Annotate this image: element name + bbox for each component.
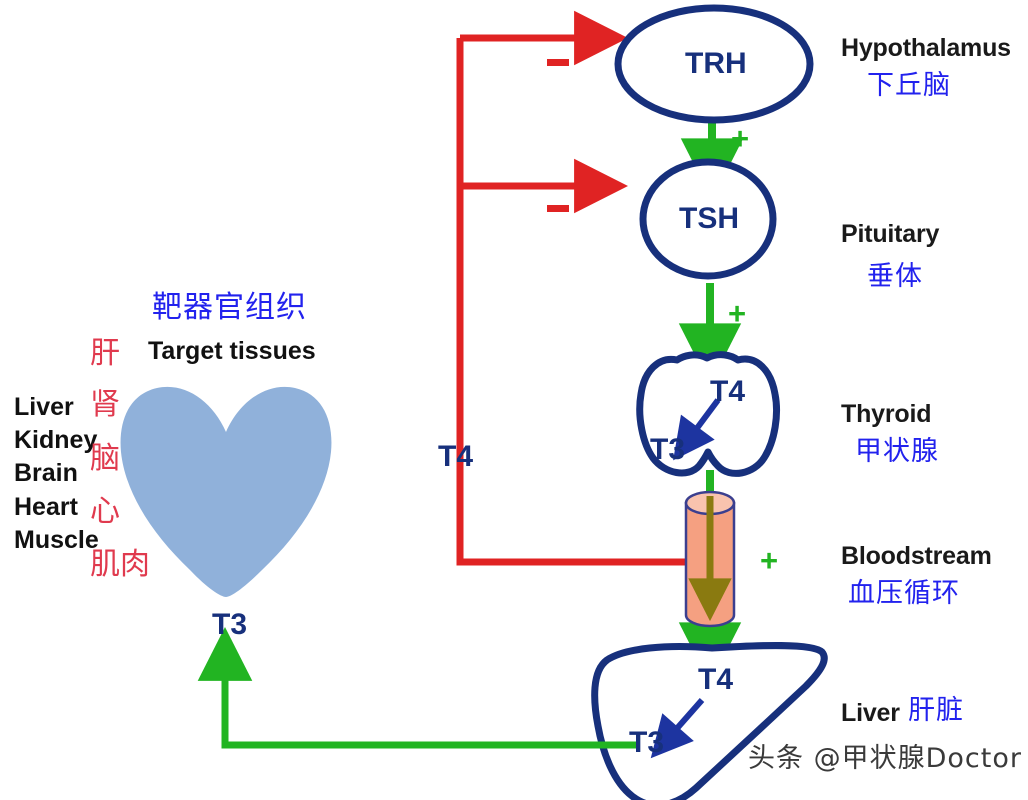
target-tissue-en-brain: Brain [14,461,78,486]
bloodstream-label-zh: 血压循环 [848,580,960,607]
liver-t4-label: T4 [698,665,733,695]
hypothalamus-hormone-label: TRH [685,49,747,79]
liver-t3-label: T3 [629,728,664,758]
target-tissue-zh-liver: 肝 [90,339,120,369]
target-tissue-en-heart: Heart [14,495,78,520]
thyroid-t4-label: T4 [710,377,745,407]
target-tissue-en-liver: Liver [14,395,74,420]
plus-sign-bloodstream: + [760,545,778,576]
pituitary-hormone-label: TSH [679,204,739,234]
target-tissue-heart-shape [121,387,332,597]
bloodstream-label-en: Bloodstream [841,544,992,569]
target-tissues-title-en: Target tissues [148,339,316,364]
feedback-trunk-line [460,38,690,562]
t3-return-path [225,655,637,745]
plus-sign-trh-to-tsh: + [731,123,749,154]
bloodstream-shape [686,492,734,626]
plus-sign-tsh-to-thyroid: + [728,298,746,329]
thyroid-label-en: Thyroid [841,402,931,427]
minus-sign-pituitary [547,205,569,212]
liver-label-en: Liver [841,701,900,726]
liver-label-zh: 肝脏 [908,697,964,724]
thyroid-label-zh: 甲状腺 [855,438,939,465]
t4-feedback-label: T4 [438,442,473,472]
target-tissue-zh-kidney: 肾 [90,390,120,420]
hypothalamus-label-en: Hypothalamus [841,36,1011,61]
target-tissue-zh-brain: 脑 [90,444,120,474]
pituitary-label-zh: 垂体 [867,263,923,290]
pituitary-label-en: Pituitary [841,222,939,247]
t3-to-tissues-label: T3 [212,610,247,640]
watermark: 头条 @甲状腺Doctor [748,745,1022,772]
hypothalamus-label-zh: 下丘脑 [867,72,951,99]
target-tissue-zh-heart: 心 [90,497,120,527]
diagram-canvas: TRH Hypothalamus 下丘脑 + TSH Pituitary 垂体 … [0,0,1028,800]
target-tissue-en-kidney: Kidney [14,428,97,453]
thyroid-t3-label: T3 [650,435,685,465]
negative-feedback-path-group [460,38,690,562]
target-tissue-en-muscle: Muscle [14,528,99,553]
target-tissues-title-zh: 靶器官组织 [152,293,307,323]
target-tissue-zh-muscle: 肌肉 [90,550,150,580]
minus-sign-hypothalamus [547,59,569,66]
